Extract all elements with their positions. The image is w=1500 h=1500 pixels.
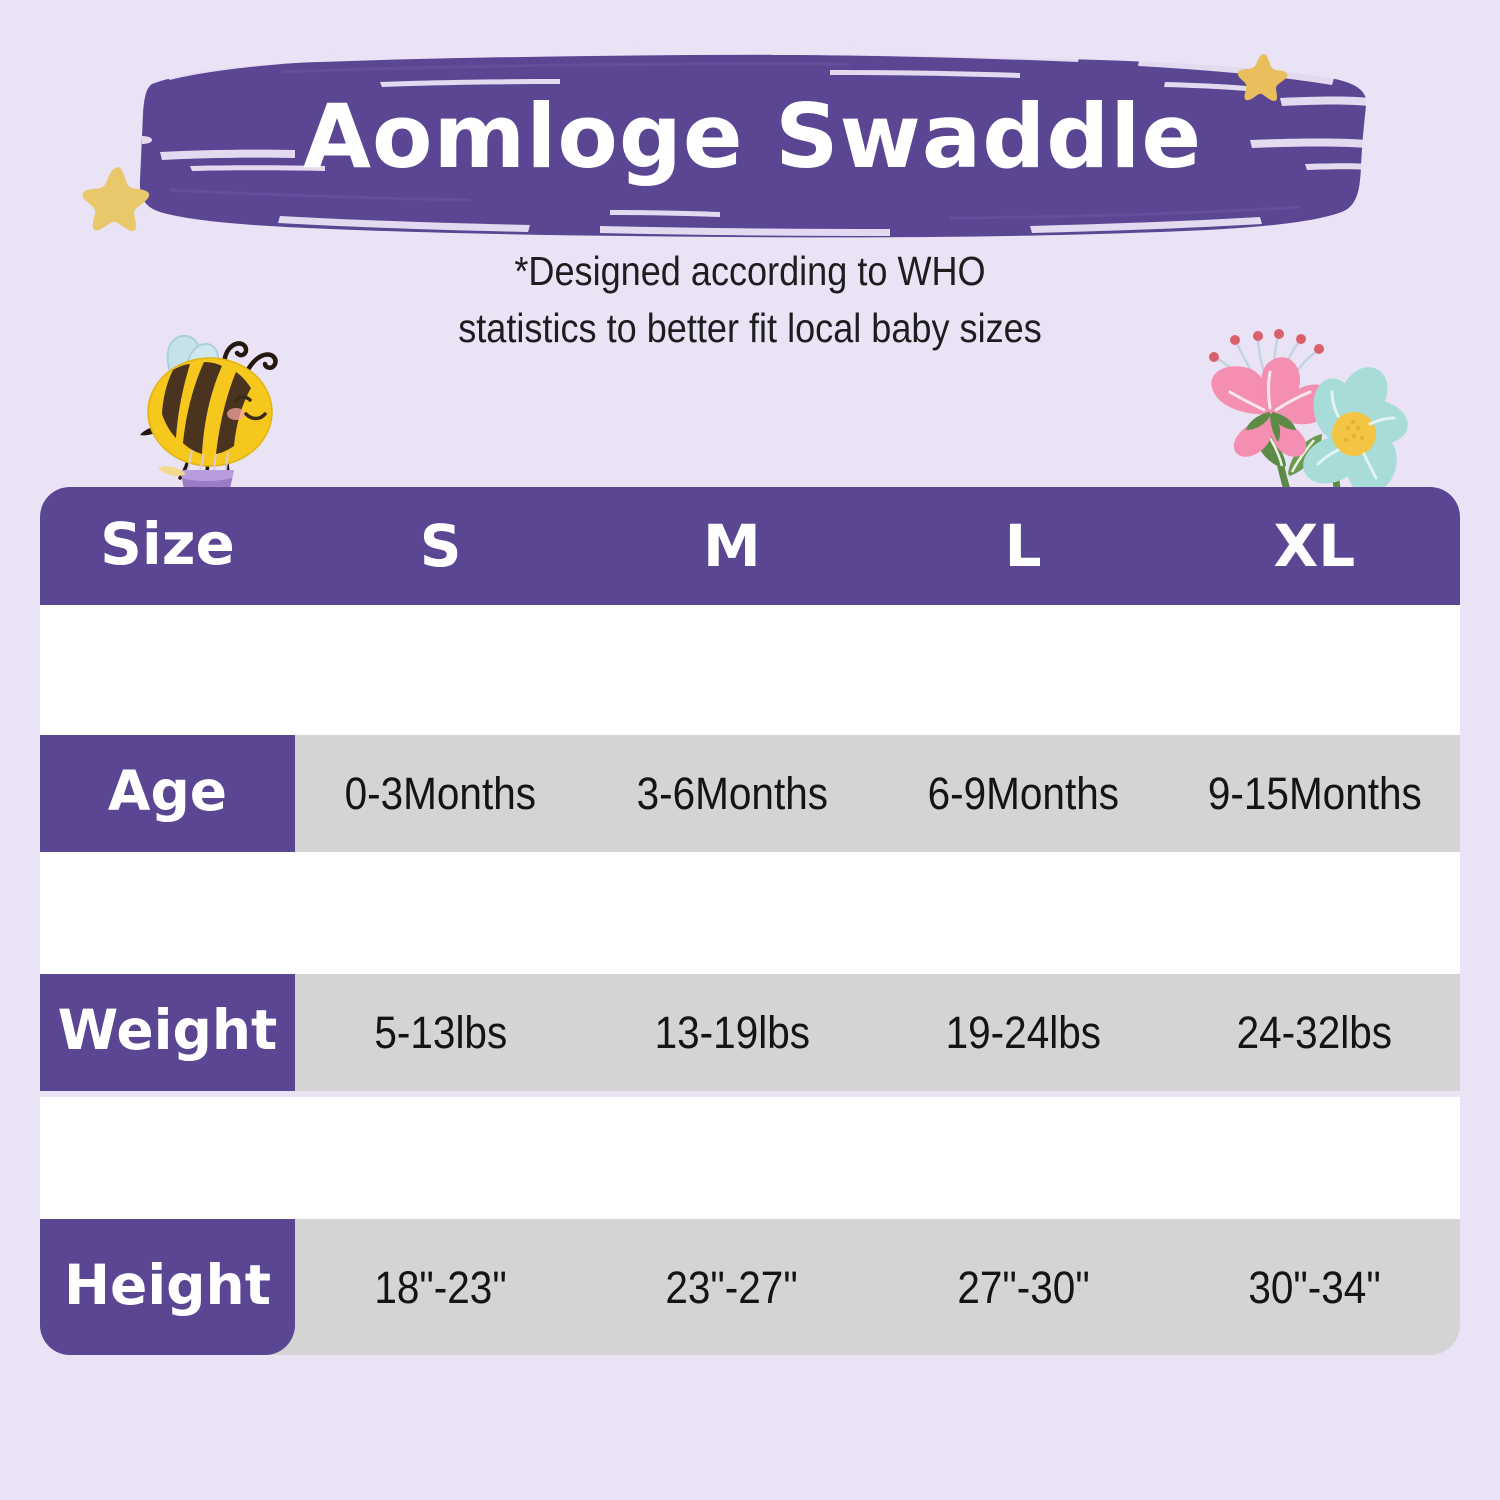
weight-value-xl: 24-32lbs (1169, 974, 1460, 1091)
star-icon-small (1238, 50, 1290, 102)
row-label-height: Height (40, 1219, 295, 1355)
header-cell-xl: XL (1169, 487, 1460, 605)
table-row-age: Age 0-3Months 3-6Months 6-9Months 9-15Mo… (40, 735, 1460, 852)
header-cell-size: Size (40, 487, 295, 605)
subtitle: *Designed according to WHO statistics to… (310, 243, 1190, 357)
table-spacer-row (40, 852, 1460, 974)
age-value-xl: 9-15Months (1169, 735, 1460, 852)
header-cell-l: L (878, 487, 1169, 605)
header-cell-m: M (586, 487, 877, 605)
table-row-weight: Weight 5-13lbs 13-19lbs 19-24lbs 24-32lb… (40, 974, 1460, 1091)
title-banner: Aomloge Swaddle (130, 40, 1375, 240)
height-value-l: 27"-30" (878, 1219, 1169, 1355)
table-header-row: Size S M L XL (40, 487, 1460, 605)
star-icon (82, 163, 154, 235)
table-spacer-row (40, 605, 1460, 735)
table-row-height: Height 18"-23" 23"-27" 27"-30" 30"-34" (40, 1219, 1460, 1355)
row-label-age: Age (40, 735, 295, 852)
height-value-s: 18"-23" (295, 1219, 586, 1355)
age-value-l: 6-9Months (878, 735, 1169, 852)
page-title: Aomloge Swaddle (130, 40, 1375, 240)
flower-illustration (1178, 318, 1413, 504)
row-label-weight: Weight (40, 974, 295, 1091)
weight-value-l: 19-24lbs (878, 974, 1169, 1091)
header-cell-s: S (295, 487, 586, 605)
weight-value-s: 5-13lbs (295, 974, 586, 1091)
height-value-xl: 30"-34" (1169, 1219, 1460, 1355)
age-value-s: 0-3Months (295, 735, 586, 852)
subtitle-line-1: *Designed according to WHO (310, 243, 1190, 300)
bee-illustration (118, 322, 298, 504)
size-chart-page: Aomloge Swaddle *Designed according to W… (0, 0, 1500, 1500)
subtitle-line-2: statistics to better fit local baby size… (310, 300, 1190, 357)
height-value-m: 23"-27" (586, 1219, 877, 1355)
age-value-m: 3-6Months (586, 735, 877, 852)
weight-value-m: 13-19lbs (586, 974, 877, 1091)
table-spacer-row (40, 1097, 1460, 1219)
size-chart-table: Size S M L XL Age 0-3Months 3-6Months 6-… (40, 487, 1460, 1355)
